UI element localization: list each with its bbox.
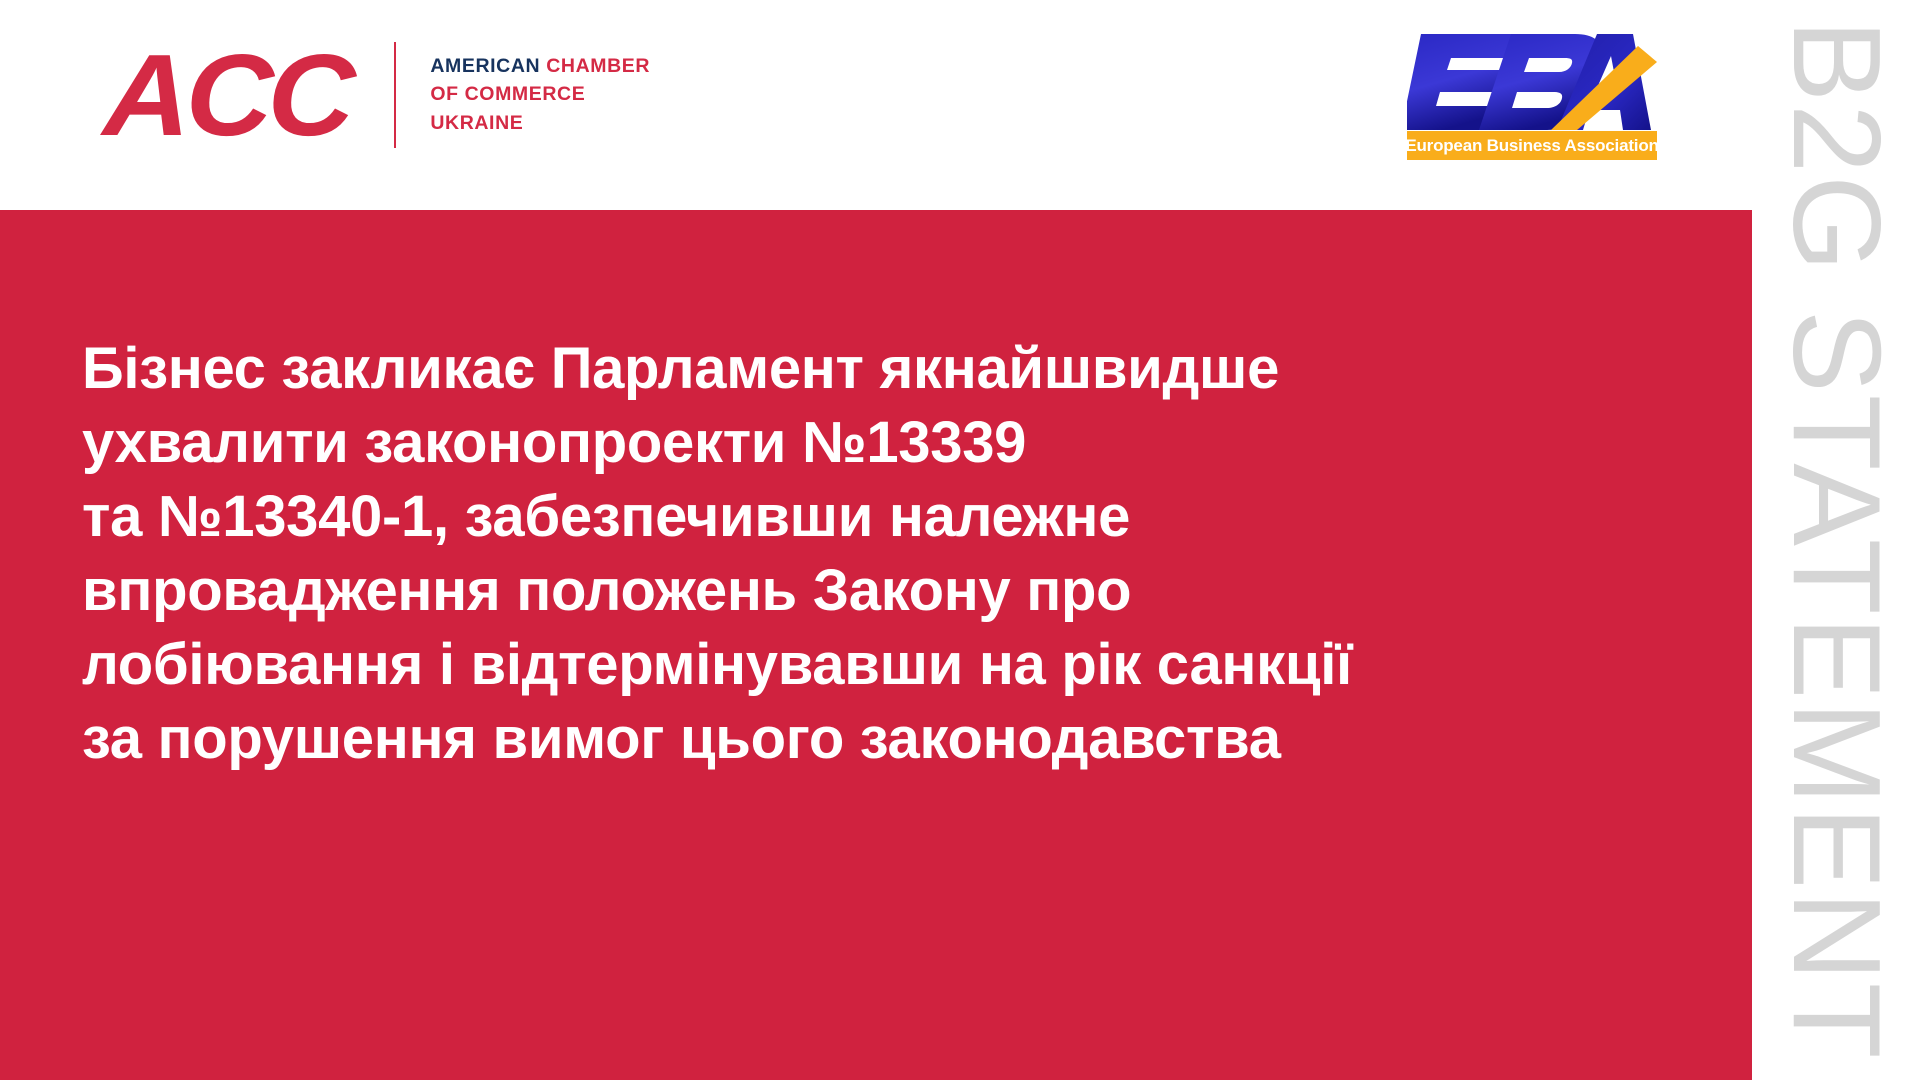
side-label-text: B2G STATEMENT [1774,19,1898,1060]
eba-caption-bar: European Business Association [1407,131,1657,160]
side-label: B2G STATEMENT [1752,0,1920,1080]
eba-mark-icon [1407,22,1657,132]
acc-tagline-line-3: UKRAINE [430,114,650,134]
statement-line-3: та №13340-1, забезпечивши належне [82,480,1702,554]
acc-wordmark-text: ACC [102,40,368,150]
acc-tagline-line-2: OF COMMERCE [430,85,650,105]
statement-headline: Бізнес закликає Парламент якнайшвидше ух… [82,332,1702,776]
acc-logo-divider [394,42,396,148]
statement-panel: Бізнес закликає Парламент якнайшвидше ух… [0,210,1752,1080]
statement-line-2: ухвалити законопроекти №13339 [82,406,1702,480]
acc-tagline-american: AMERICAN [430,55,546,77]
acc-logo[interactable]: ACC AMERICAN CHAMBER OF COMMERCE UKRAINE [104,30,650,160]
statement-line-1: Бізнес закликає Парламент якнайшвидше [82,332,1702,406]
statement-line-5: лобіювання і відтермінувавши на рік санк… [82,628,1702,702]
acc-tagline: AMERICAN CHAMBER OF COMMERCE UKRAINE [430,57,650,134]
eba-caption-text: European Business Association [1405,137,1658,154]
eba-logo[interactable]: European Business Association [1407,22,1657,160]
statement-line-4: впровадження положень Закону про [82,554,1702,628]
acc-tagline-chamber: CHAMBER [546,55,650,77]
statement-line-6: за порушення вимог цього законодавства [82,702,1702,776]
acc-tagline-line-1: AMERICAN CHAMBER [430,57,650,77]
